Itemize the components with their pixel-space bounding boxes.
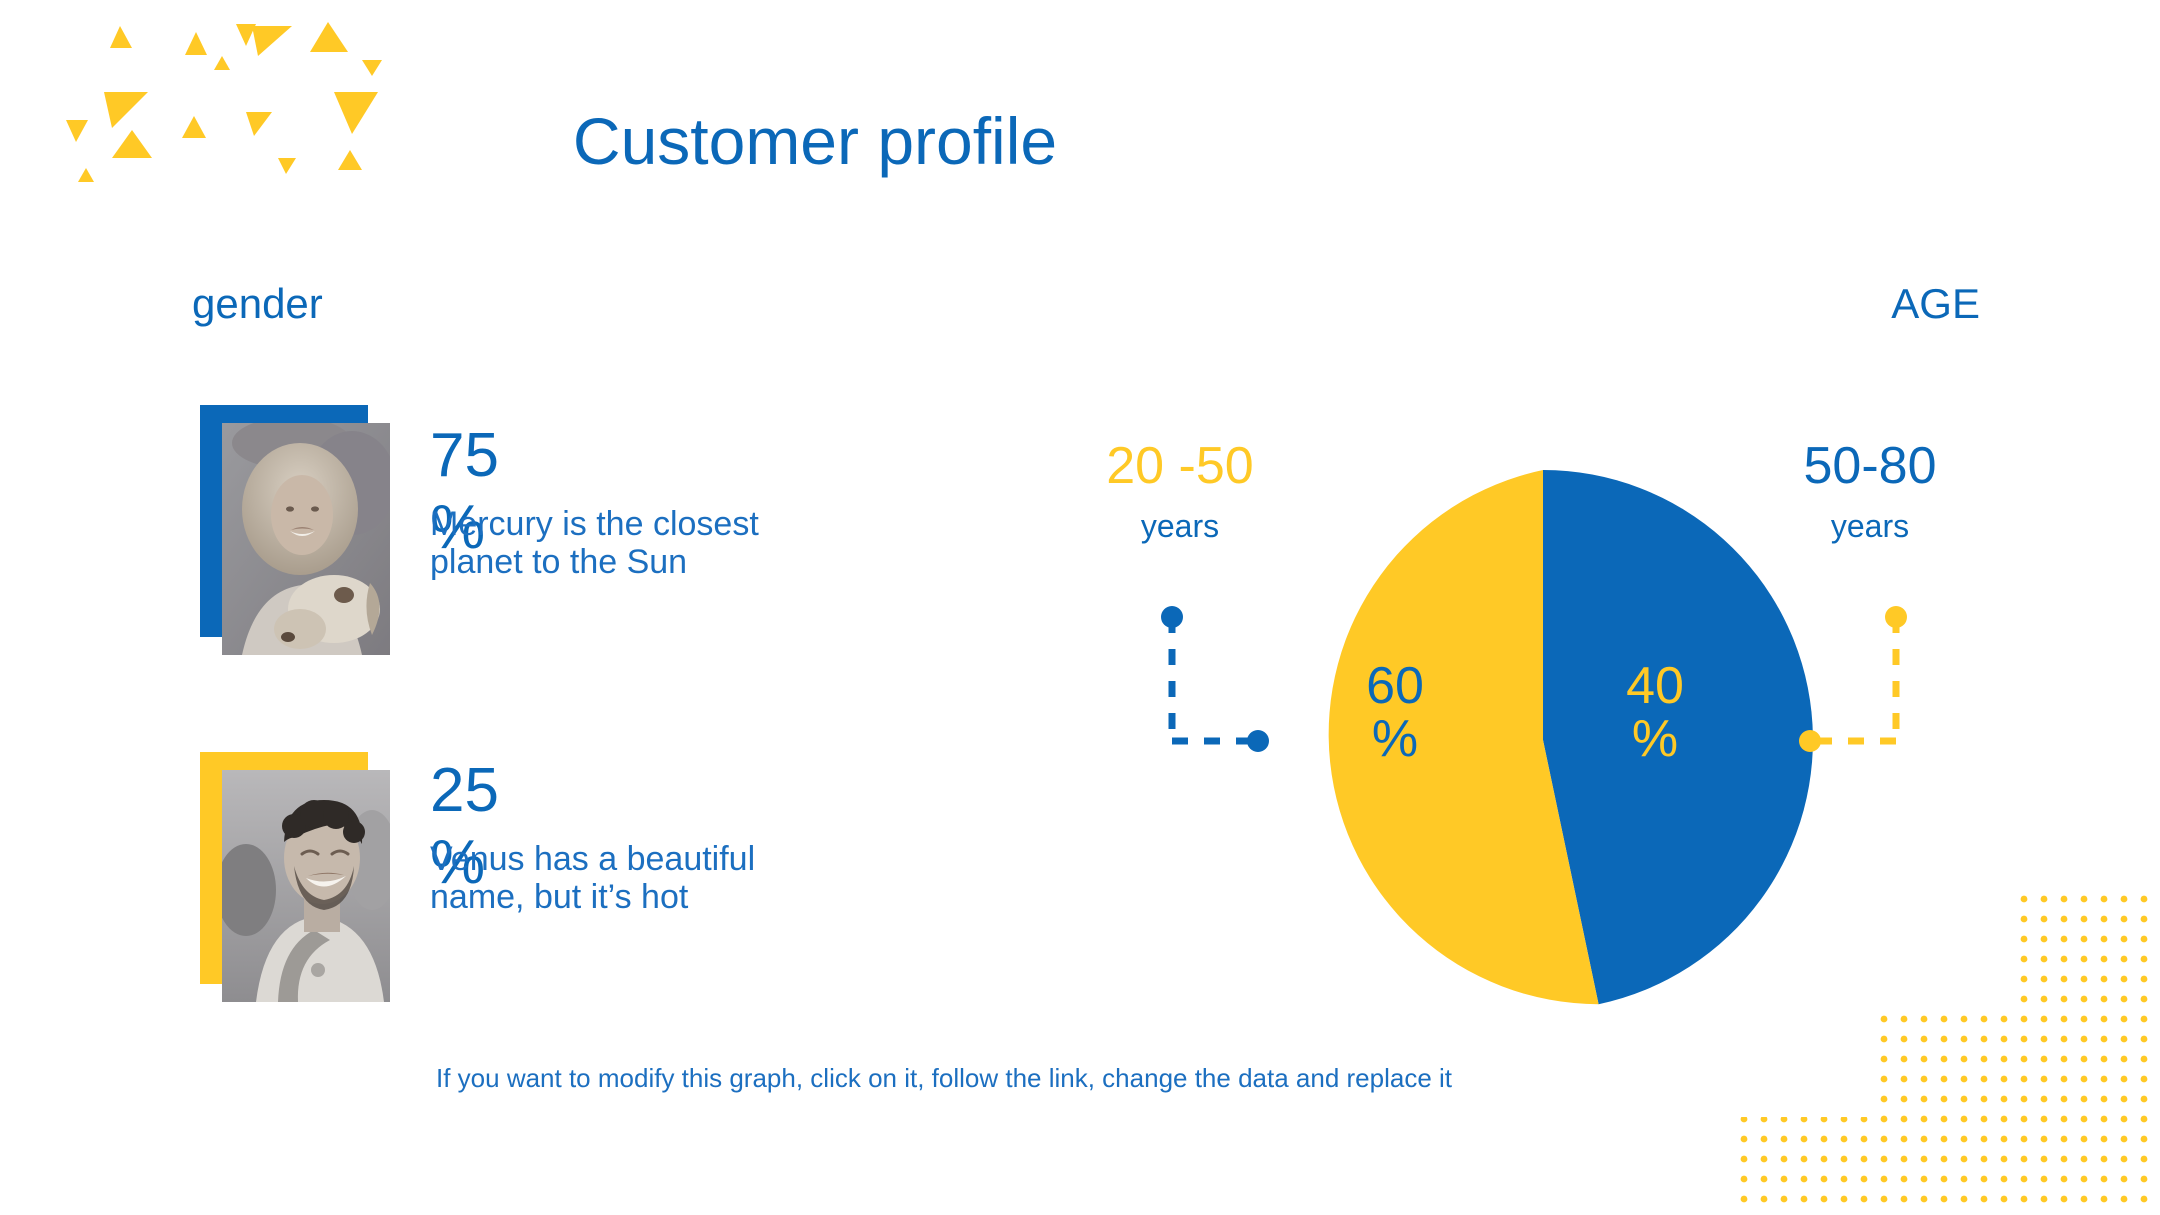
callout-age-50-80: 50-80 years <box>1740 440 2000 542</box>
connector-line-left <box>1150 605 1290 765</box>
page-title: Customer profile <box>0 108 2160 174</box>
pie-label-left-symbol: % <box>1330 713 1460 766</box>
gender-stat-2: 25 % Venus has a beautiful name, but it’… <box>430 760 830 822</box>
section-label-age: AGE <box>1891 283 1980 325</box>
callout-age-20-50: 20 -50 years <box>1060 440 1300 542</box>
callout-right-range: 50-80 <box>1740 440 2000 492</box>
photo-woman-with-dog <box>222 423 390 655</box>
slide-canvas: Customer profile gender AGE <box>0 0 2160 1215</box>
callout-left-range: 20 -50 <box>1060 440 1300 492</box>
section-label-gender: gender <box>192 283 323 325</box>
callout-left-unit: years <box>1060 510 1300 542</box>
gender-stat-2-value: 25 <box>430 760 830 822</box>
photo-man-with-backpack <box>222 770 390 1002</box>
gender-stat-1-body: Mercury is the closest planet to the Sun <box>430 505 830 581</box>
callout-right-unit: years <box>1740 510 2000 542</box>
pie-label-left-value: 60 <box>1330 660 1460 713</box>
pie-label-right-symbol: % <box>1590 713 1720 766</box>
pie-label-left: 60 % <box>1330 660 1460 766</box>
pie-label-right-value: 40 <box>1590 660 1720 713</box>
gender-stat-2-body: Venus has a beautiful name, but it’s hot <box>430 840 830 916</box>
gender-stat-1-value: 75 <box>430 425 830 487</box>
gender-stat-1: 75 % Mercury is the closest planet to th… <box>430 425 830 487</box>
chart-edit-caption: If you want to modify this graph, click … <box>436 1063 1452 1094</box>
pie-label-right: 40 % <box>1590 660 1720 766</box>
page-title-text: Customer profile <box>573 108 1057 174</box>
